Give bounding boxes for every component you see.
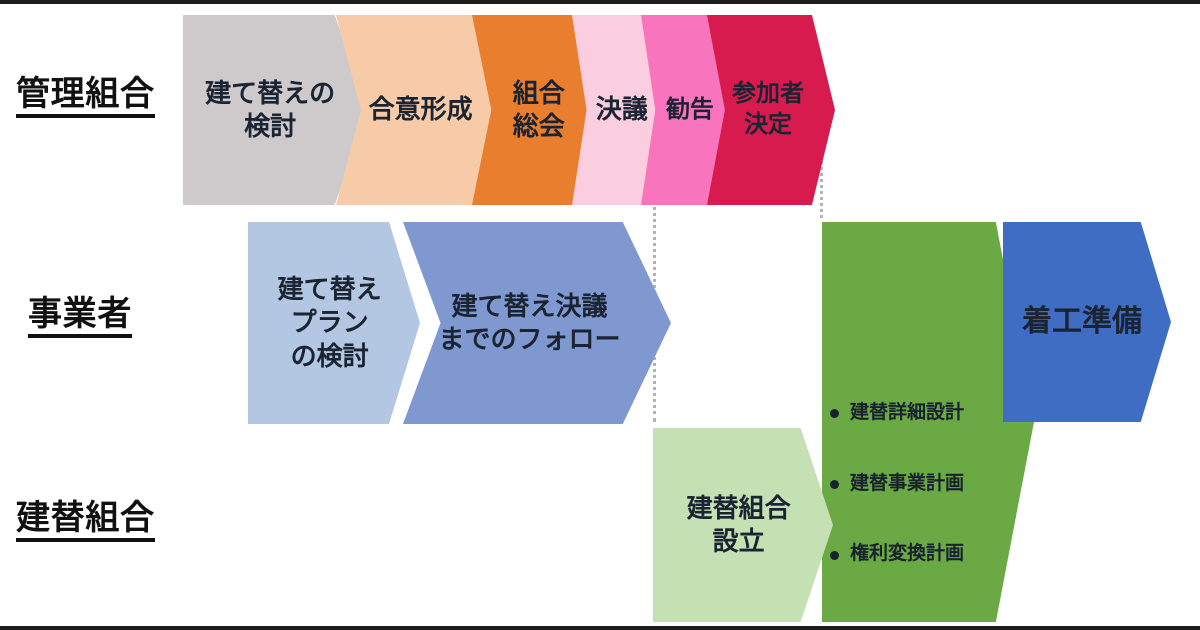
step-goui-label: 合意形成 (367, 93, 475, 126)
step-kentou[interactable]: 建て替えの 検討 (183, 15, 368, 205)
step-keikaku-bullet-list: 建替詳細設計 建替事業計画 権利変換計画 (822, 377, 964, 591)
step-sankasha-label: 参加者 決定 (730, 79, 806, 140)
step-plan-label: 建て替え プラン の検討 (276, 273, 384, 373)
diagram-canvas: 管理組合 事業者 建替組合 建て替えの 検討 合意形成 組合 総会 決議 勧告 … (0, 0, 1200, 630)
lane-label-jigyousha: 事業者 (28, 296, 132, 338)
step-keikaku-bullet: 権利変換計画 (850, 542, 964, 566)
step-setsuritsu[interactable]: 建替組合 設立 (653, 428, 833, 622)
slide-bottom-rule (0, 626, 1200, 630)
step-keikaku[interactable]: 建替詳細設計 建替事業計画 権利変換計画 (822, 222, 1034, 622)
lane-label-kanri-kumiai: 管理組合 (16, 76, 155, 118)
slide-top-rule (0, 0, 1200, 4)
step-sankasha[interactable]: 参加者 決定 (707, 15, 835, 205)
step-ketsugi-label: 決議 (594, 93, 650, 126)
step-plan[interactable]: 建て替え プラン の検討 (248, 222, 420, 424)
step-follow[interactable]: 建て替え決議 までのフォロー (403, 222, 671, 424)
step-kentou-label: 建て替えの 検討 (203, 77, 337, 144)
step-keikaku-bullet: 建替事業計画 (850, 472, 964, 496)
step-kankoku-label: 勧告 (664, 95, 716, 126)
step-soukai-label: 組合 総会 (511, 77, 567, 144)
step-follow-label: 建て替え決議 までのフォロー (437, 290, 623, 357)
lane-label-tatekae-kumiai: 建替組合 (16, 500, 155, 542)
step-keikaku-bullet: 建替詳細設計 (850, 401, 964, 425)
step-setsuritsu-label: 建替組合 設立 (685, 492, 793, 559)
step-chakkou-label: 着工準備 (1020, 303, 1144, 341)
step-chakkou[interactable]: 着工準備 (1003, 222, 1171, 422)
